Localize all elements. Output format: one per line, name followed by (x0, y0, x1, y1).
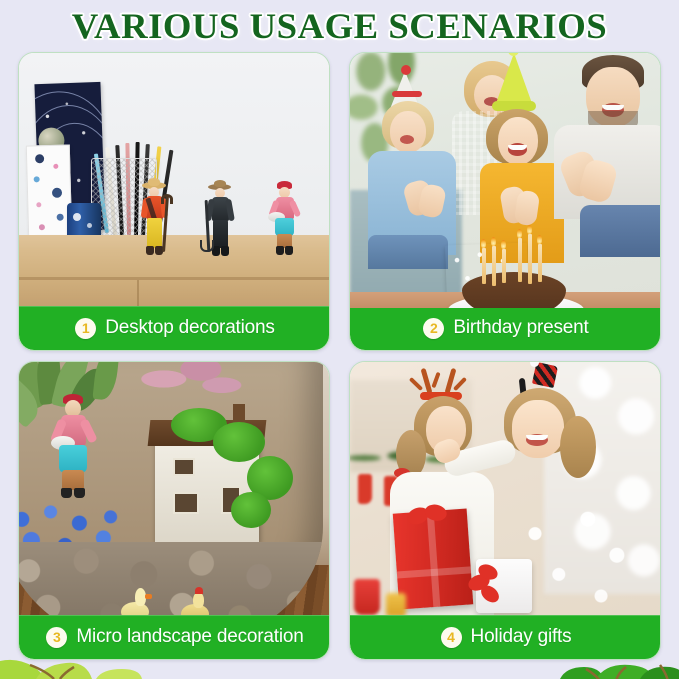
figurine-hen (179, 592, 211, 617)
candle-decor (386, 593, 406, 617)
panel-caption-label: Micro landscape decoration (76, 626, 303, 648)
terrarium-bowl (19, 362, 323, 617)
panel-number-badge: 1 (75, 318, 96, 339)
scenario-grid: 1 Desktop decorations (0, 52, 679, 679)
scenario-photo-micro-landscape (19, 362, 329, 617)
birthday-cake (462, 272, 566, 308)
candle-decor (354, 579, 380, 615)
scenario-photo-desktop-decorations (19, 53, 329, 308)
person-boy (368, 97, 460, 257)
panel-caption-label: Holiday gifts (471, 626, 572, 648)
pink-succulent (129, 362, 245, 410)
person-father (558, 55, 660, 255)
panel-number-badge: 3 (46, 627, 67, 648)
figurine-woman-pink (267, 184, 301, 260)
panel-caption-label: Birthday present (453, 317, 588, 339)
panel-number-badge: 2 (423, 318, 444, 339)
gift-box-white (476, 559, 532, 613)
panel-caption: 4 Holiday gifts (350, 615, 661, 659)
scenario-panel-holiday-gifts[interactable]: 4 Holiday gifts (349, 361, 661, 660)
panel-caption: 3 Micro landscape decoration (19, 615, 330, 659)
figurine-woman-pink (51, 394, 95, 504)
scenario-photo-holiday-gifts (350, 362, 660, 617)
figurine-goose (119, 588, 151, 617)
stocking-icon (358, 474, 372, 504)
notepad-prop (26, 144, 72, 239)
scenario-panel-micro-landscape[interactable]: 3 Micro landscape decoration (18, 361, 330, 660)
page-title: VARIOUS USAGE SCENARIOS (72, 5, 607, 47)
panel-caption-label: Desktop decorations (105, 317, 274, 339)
figurine-farmer-orange (137, 182, 171, 260)
scenario-panel-birthday-present[interactable]: 2 Birthday present (349, 52, 661, 351)
figurine-farmer-dark (204, 184, 236, 260)
scenario-panel-desktop-decorations[interactable]: 1 Desktop decorations (18, 52, 330, 351)
panel-caption: 2 Birthday present (350, 306, 661, 350)
page-header: VARIOUS USAGE SCENARIOS (0, 0, 679, 52)
scenario-photo-birthday-present (350, 53, 660, 308)
panel-number-badge: 4 (441, 627, 462, 648)
panel-caption: 1 Desktop decorations (19, 306, 330, 350)
